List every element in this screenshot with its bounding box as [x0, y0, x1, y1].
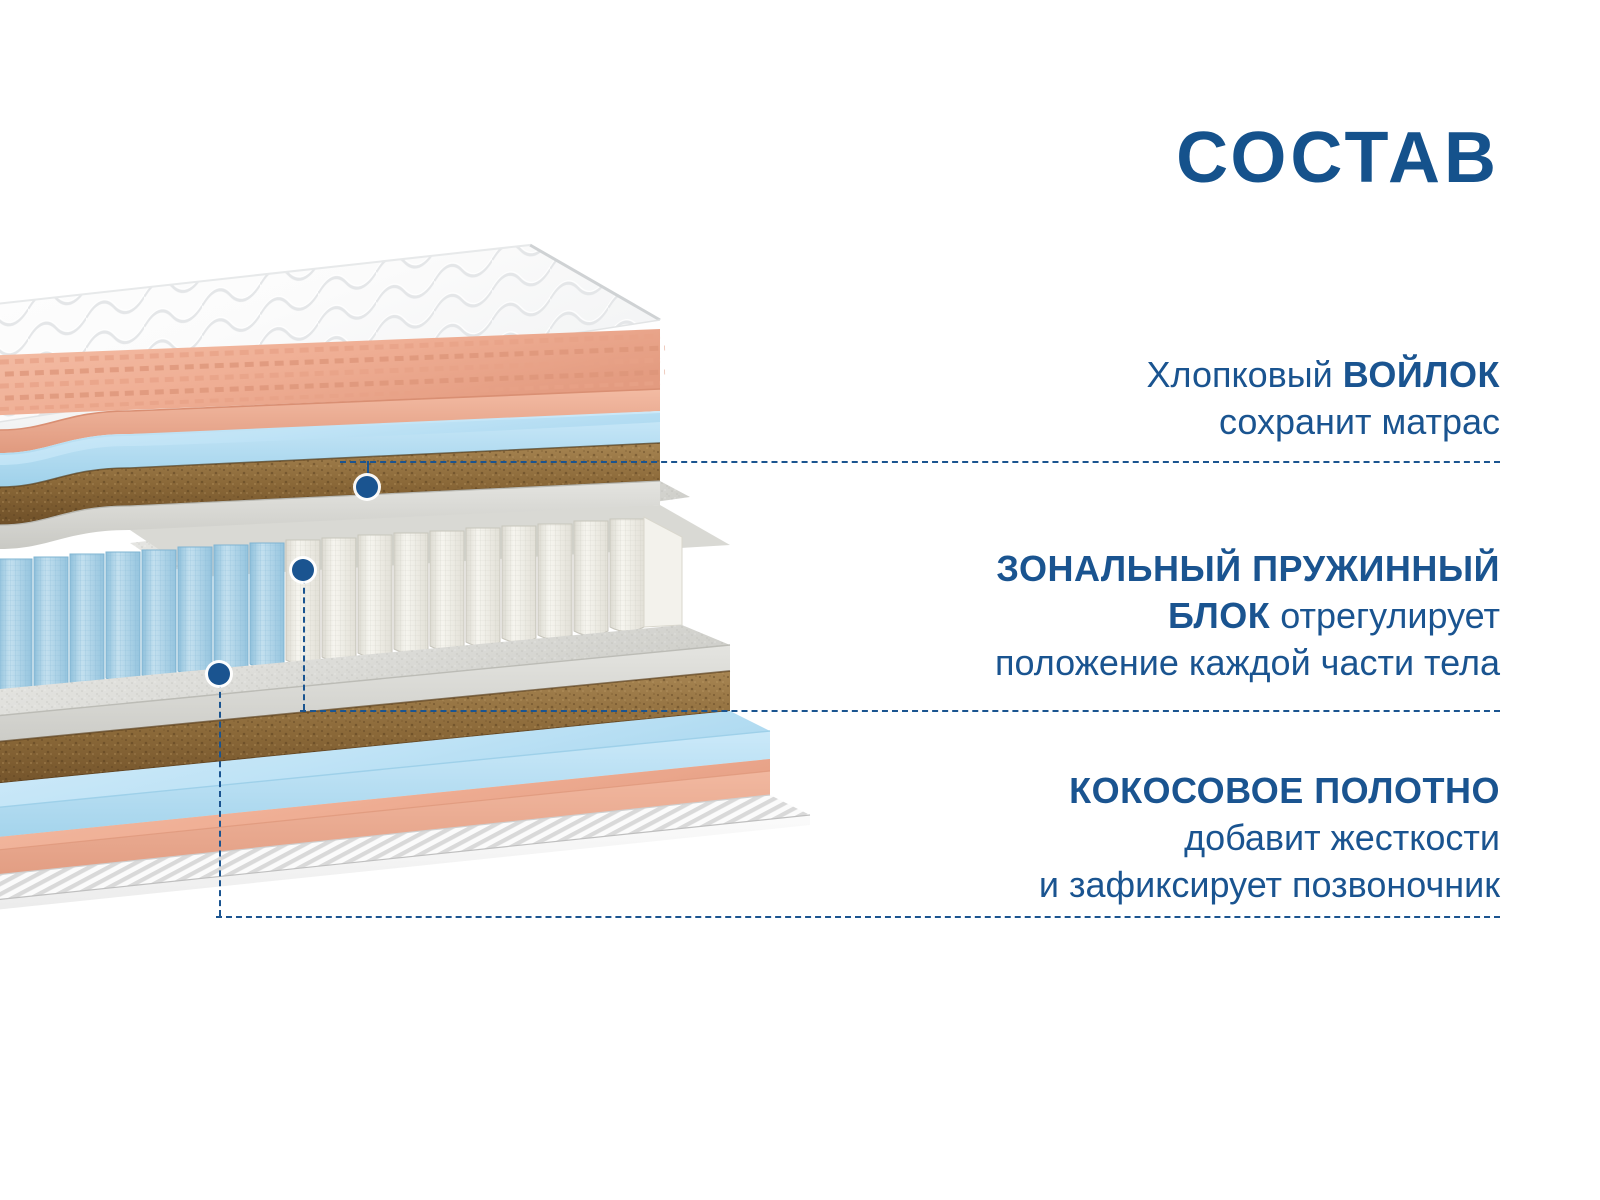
page-title: СОСТАВ	[0, 122, 1500, 194]
callout-2-suffix: отрегулирует	[1270, 595, 1500, 636]
leader-horizontal-1	[340, 461, 1500, 463]
callout-2-line-2: БЛОК отрегулирует	[995, 593, 1500, 640]
callout-zonal-spring-block: ЗОНАЛЬНЫЙ ПРУЖИННЫЙ БЛОК отрегулирует по…	[995, 546, 1500, 686]
callout-3-keyword: КОКОСОВОЕ ПОЛОТНО	[1069, 770, 1500, 811]
leader-horizontal-2	[300, 710, 1500, 712]
mattress-cutaway-illustration	[0, 225, 830, 825]
leader-vertical-2	[303, 578, 305, 710]
callout-1-line-1: Хлопковый ВОЙЛОК	[1147, 352, 1500, 399]
marker-dot-zonal-spring-block	[292, 559, 314, 581]
callout-2-keyword-line-2: БЛОК	[1168, 595, 1270, 636]
leader-horizontal-3	[216, 916, 1500, 918]
marker-dot-coconut-coir	[208, 663, 230, 685]
callout-1-line-2: сохранит матрас	[1147, 399, 1500, 446]
callout-2-line-3: положение каждой части тела	[995, 640, 1500, 687]
callout-1-prefix: Хлопковый	[1147, 354, 1343, 395]
infographic-canvas: СОСТАВ	[0, 0, 1600, 1200]
callout-cotton-felt: Хлопковый ВОЙЛОК сохранит матрас	[1147, 352, 1500, 446]
callout-1-keyword: ВОЙЛОК	[1343, 354, 1500, 395]
callout-coconut-coir: КОКОСОВОЕ ПОЛОТНО добавит жесткости и за…	[1039, 768, 1500, 908]
leader-vertical-3	[219, 682, 221, 916]
callout-3-line-1: КОКОСОВОЕ ПОЛОТНО	[1039, 768, 1500, 815]
callout-2-keyword-line-1: ЗОНАЛЬНЫЙ ПРУЖИННЫЙ	[996, 548, 1500, 589]
callout-2-line-1: ЗОНАЛЬНЫЙ ПРУЖИННЫЙ	[995, 546, 1500, 593]
callout-3-line-3: и зафиксирует позвоночник	[1039, 862, 1500, 909]
marker-dot-cotton-felt	[356, 476, 378, 498]
callout-3-line-2: добавит жесткости	[1039, 815, 1500, 862]
